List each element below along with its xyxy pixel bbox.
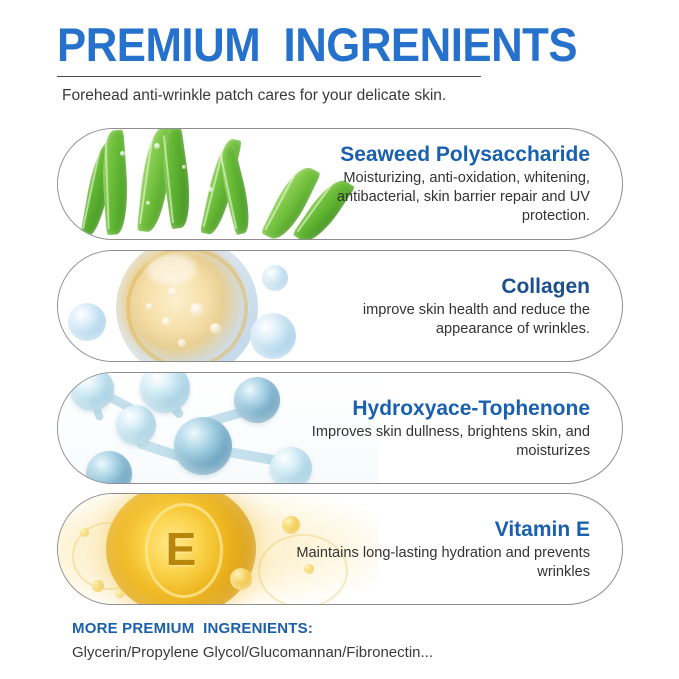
ingredient-description: improve skin health and reduce the appea… [290,301,590,339]
footer: MORE PREMIUM INGRENIENTS: Glycerin/Propy… [72,618,632,664]
ingredient-text-block: Vitamin E Maintains long-lasting hydrati… [290,494,590,604]
ingredient-text-block: Collagen improve skin health and reduce … [290,251,590,361]
page-subtitle: Forehead anti-wrinkle patch cares for yo… [62,85,446,107]
ingredient-card-vitamin-e: E Vitamin E Maintains long-lasting hydra… [57,493,623,605]
ingredient-title: Seaweed Polysaccharide [340,142,590,167]
title-divider [57,76,481,77]
ingredient-text-block: Hydroxyace-Tophenone Improves skin dulln… [290,373,590,483]
ingredient-card-hydroxyace-tophenone: Hydroxyace-Tophenone Improves skin dulln… [57,372,623,484]
page-title: PREMIUM INGRENIENTS [57,20,583,70]
ingredient-card-seaweed-polysaccharide: Seaweed Polysaccharide Moisturizing, ant… [57,128,623,240]
ingredient-title: Collagen [501,274,590,299]
ingredient-text-block: Seaweed Polysaccharide Moisturizing, ant… [290,129,590,239]
ingredient-description: Moisturizing, anti-oxidation, whitening,… [290,169,590,226]
ingredient-title: Hydroxyace-Tophenone [352,396,590,421]
ingredient-description: Maintains long-lasting hydration and pre… [290,544,590,582]
more-ingredients-list: Glycerin/Propylene Glycol/Glucomannan/Fi… [72,642,632,664]
ingredient-description: Improves skin dullness, brightens skin, … [290,423,590,461]
more-ingredients-label: MORE PREMIUM INGRENIENTS: [72,618,632,640]
ingredient-card-collagen: Collagen improve skin health and reduce … [57,250,623,362]
premium-ingredients-infographic: PREMIUM INGRENIENTS Forehead anti-wrinkl… [0,0,679,679]
ingredient-title: Vitamin E [495,517,590,542]
